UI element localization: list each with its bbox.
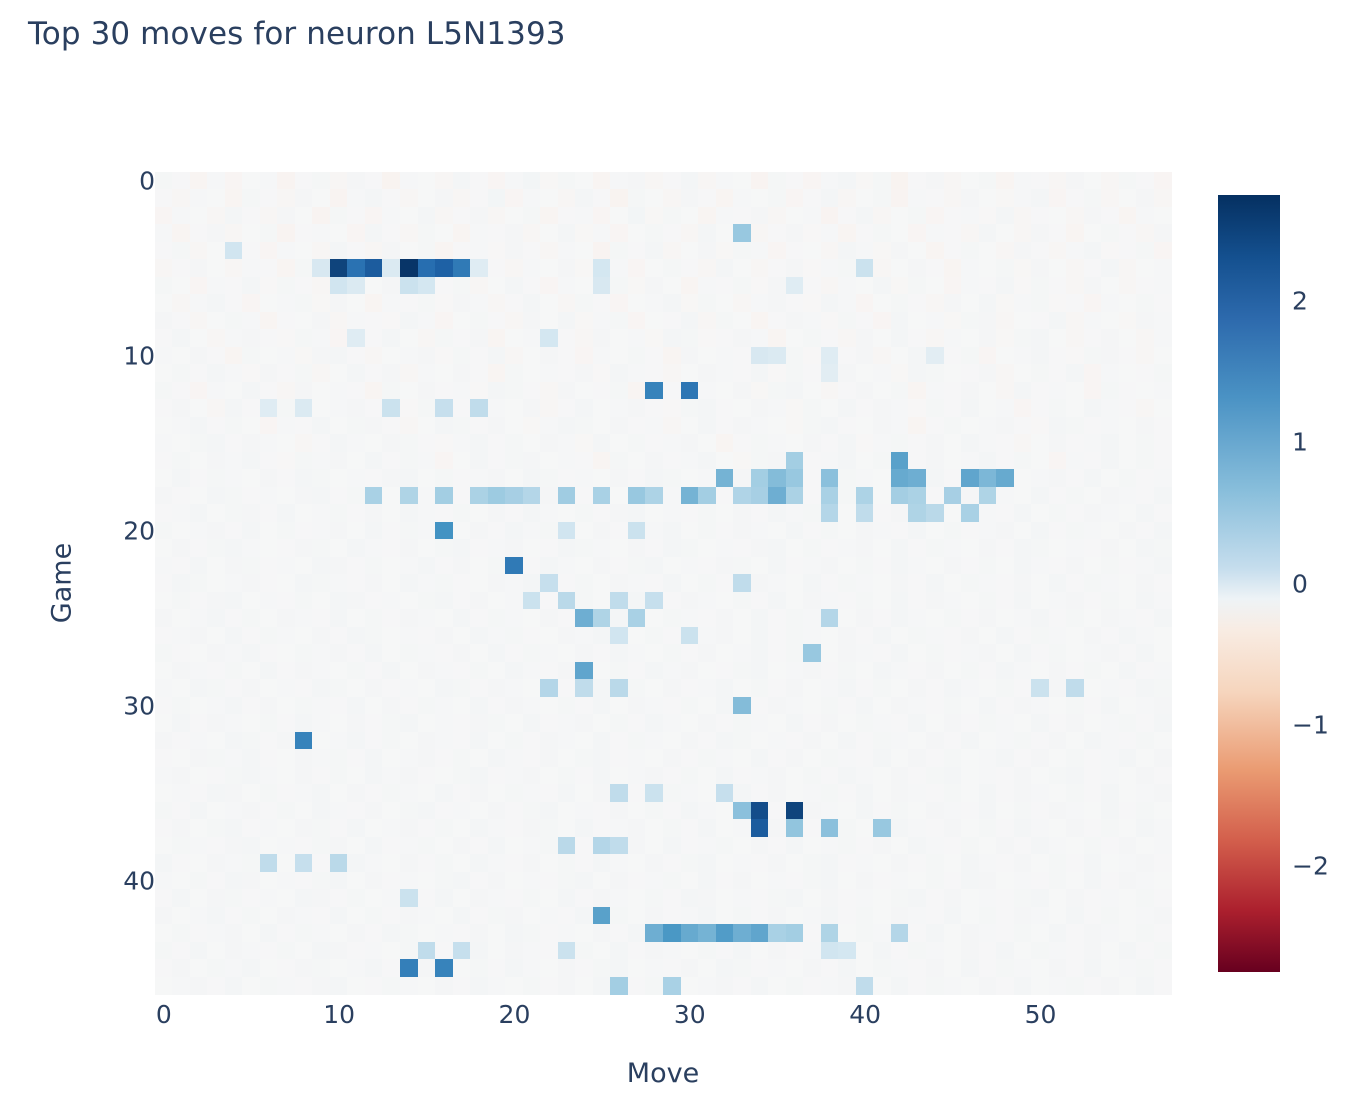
x-tick-label: 10 (323, 1000, 355, 1029)
colorbar-tick-label: −1 (1292, 710, 1329, 739)
y-axis-label: Game (47, 543, 78, 623)
x-tick-label: 40 (849, 1000, 881, 1029)
heatmap-figure: Top 30 moves for neuron L5N1393 01020304… (0, 0, 1360, 1118)
y-tick-label: 0 (139, 166, 155, 195)
x-tick-label: 50 (1025, 1000, 1057, 1029)
x-tick-label: 30 (674, 1000, 706, 1029)
colorbar-tick-label: −2 (1292, 852, 1329, 881)
colorbar-tick-label: 2 (1292, 286, 1308, 315)
heatmap-canvas[interactable] (155, 172, 1172, 995)
x-tick-label: 0 (156, 1000, 172, 1029)
colorbar-tick-label: 0 (1292, 569, 1308, 598)
plot-area[interactable] (155, 172, 1172, 995)
colorbar[interactable]: 210−1−2 (1218, 195, 1280, 972)
y-tick-label: 20 (123, 516, 155, 545)
y-tick-label: 30 (123, 692, 155, 721)
y-tick-label: 40 (123, 867, 155, 896)
colorbar-tick-label: 1 (1292, 428, 1308, 457)
x-axis-label: Move (627, 1058, 699, 1089)
page-title: Top 30 moves for neuron L5N1393 (28, 16, 566, 52)
y-tick-label: 10 (123, 341, 155, 370)
x-tick-label: 20 (499, 1000, 531, 1029)
colorbar-gradient (1218, 195, 1280, 972)
